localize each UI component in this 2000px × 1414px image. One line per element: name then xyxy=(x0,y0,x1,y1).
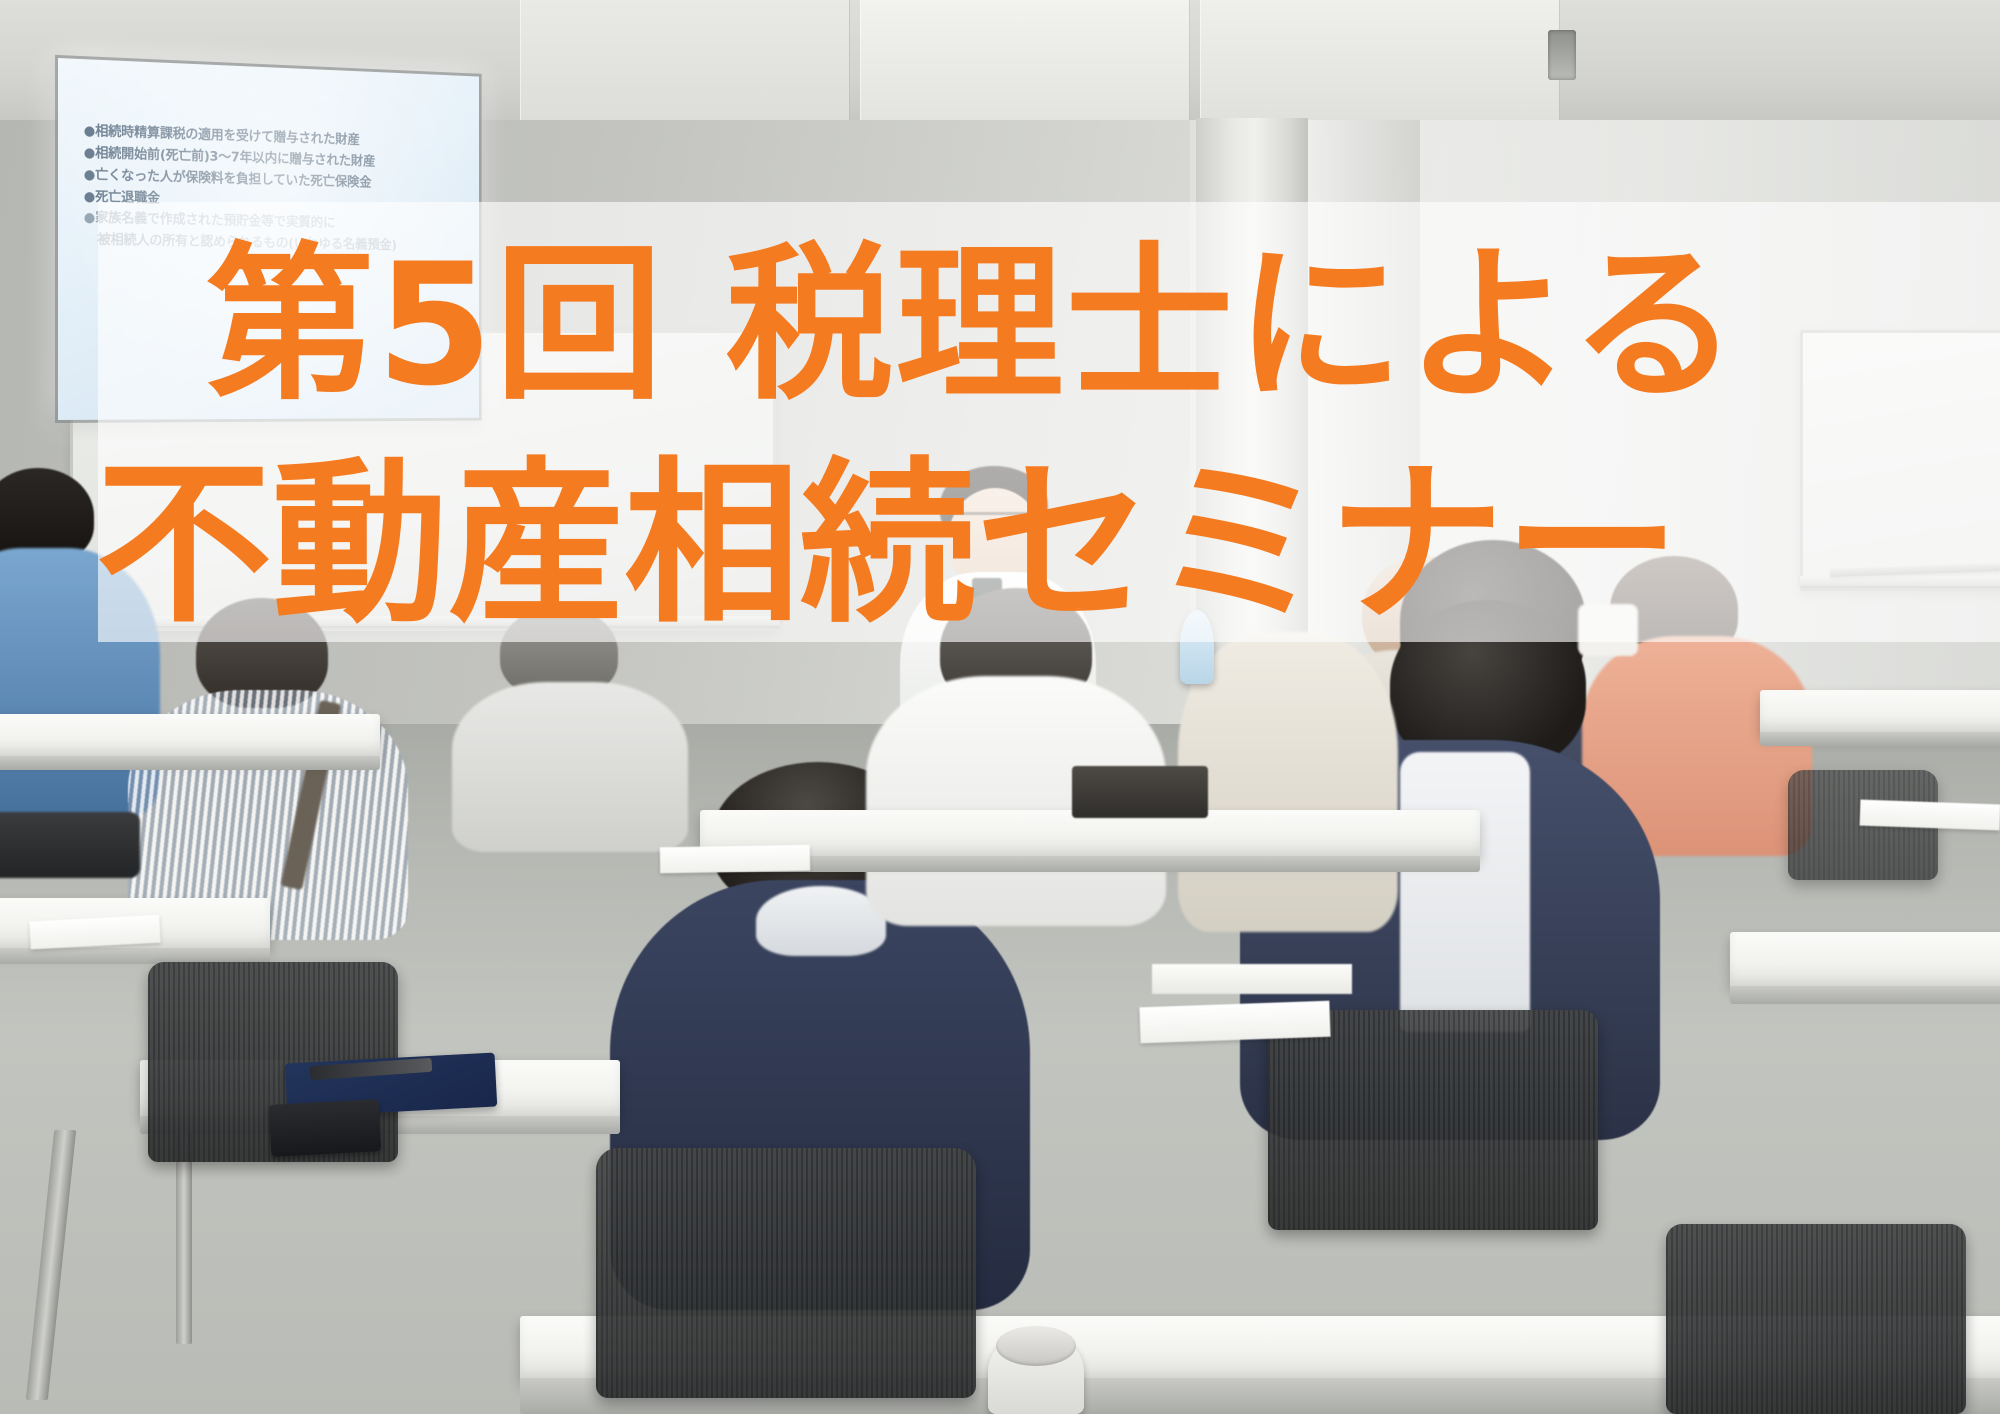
wall-vent xyxy=(1548,30,1576,80)
chair-right-front xyxy=(1666,1224,1966,1414)
table-back-left xyxy=(0,714,380,758)
papers-stack-mid xyxy=(1152,964,1352,994)
title-block: 第5回 税理士による xyxy=(0,236,2000,414)
seminar-title-image: ●相続時精算課税の適用を受けて贈与された財産 ●相続開始前(死亡前)3〜7年以内… xyxy=(0,0,2000,1414)
table-back-left-edge xyxy=(0,756,380,770)
chair-center-mid xyxy=(596,1148,976,1398)
bag-on-desk xyxy=(1072,766,1208,818)
papers-right-table xyxy=(1860,800,2000,831)
ceiling-panel-mid xyxy=(860,0,1190,128)
ceiling-panel-left xyxy=(520,0,850,128)
table-second-left-leg-2 xyxy=(176,1134,192,1344)
papers-center-table xyxy=(1139,1001,1330,1044)
seminar-room-photo: ●相続時精算課税の適用を受けて贈与された財産 ●相続開始前(死亡前)3〜7年以内… xyxy=(0,0,2000,1414)
chair-right-mid xyxy=(1268,1010,1598,1230)
table-right-side-edge xyxy=(1730,986,2000,1004)
equipment-left-edge xyxy=(0,812,140,878)
ceiling-panel-right xyxy=(1200,0,1560,128)
papers-back-table xyxy=(660,845,810,874)
title-line-2: 不動産相続セミナー xyxy=(0,452,2000,639)
table-back-right-edge xyxy=(1760,732,2000,746)
attendee-center-left-body xyxy=(452,682,688,852)
title-block-2: 不動産相続セミナー xyxy=(0,452,2000,639)
thermos-cap xyxy=(996,1326,1076,1366)
table-right-side xyxy=(1730,932,2000,988)
table-mid-center-edge xyxy=(700,856,1480,872)
smartphone-on-desk xyxy=(269,1099,382,1157)
attendee-navy-suit-right-shirt xyxy=(1400,752,1530,1032)
table-back-right xyxy=(1760,690,2000,734)
title-line-1: 第5回 税理士による xyxy=(0,236,2000,414)
